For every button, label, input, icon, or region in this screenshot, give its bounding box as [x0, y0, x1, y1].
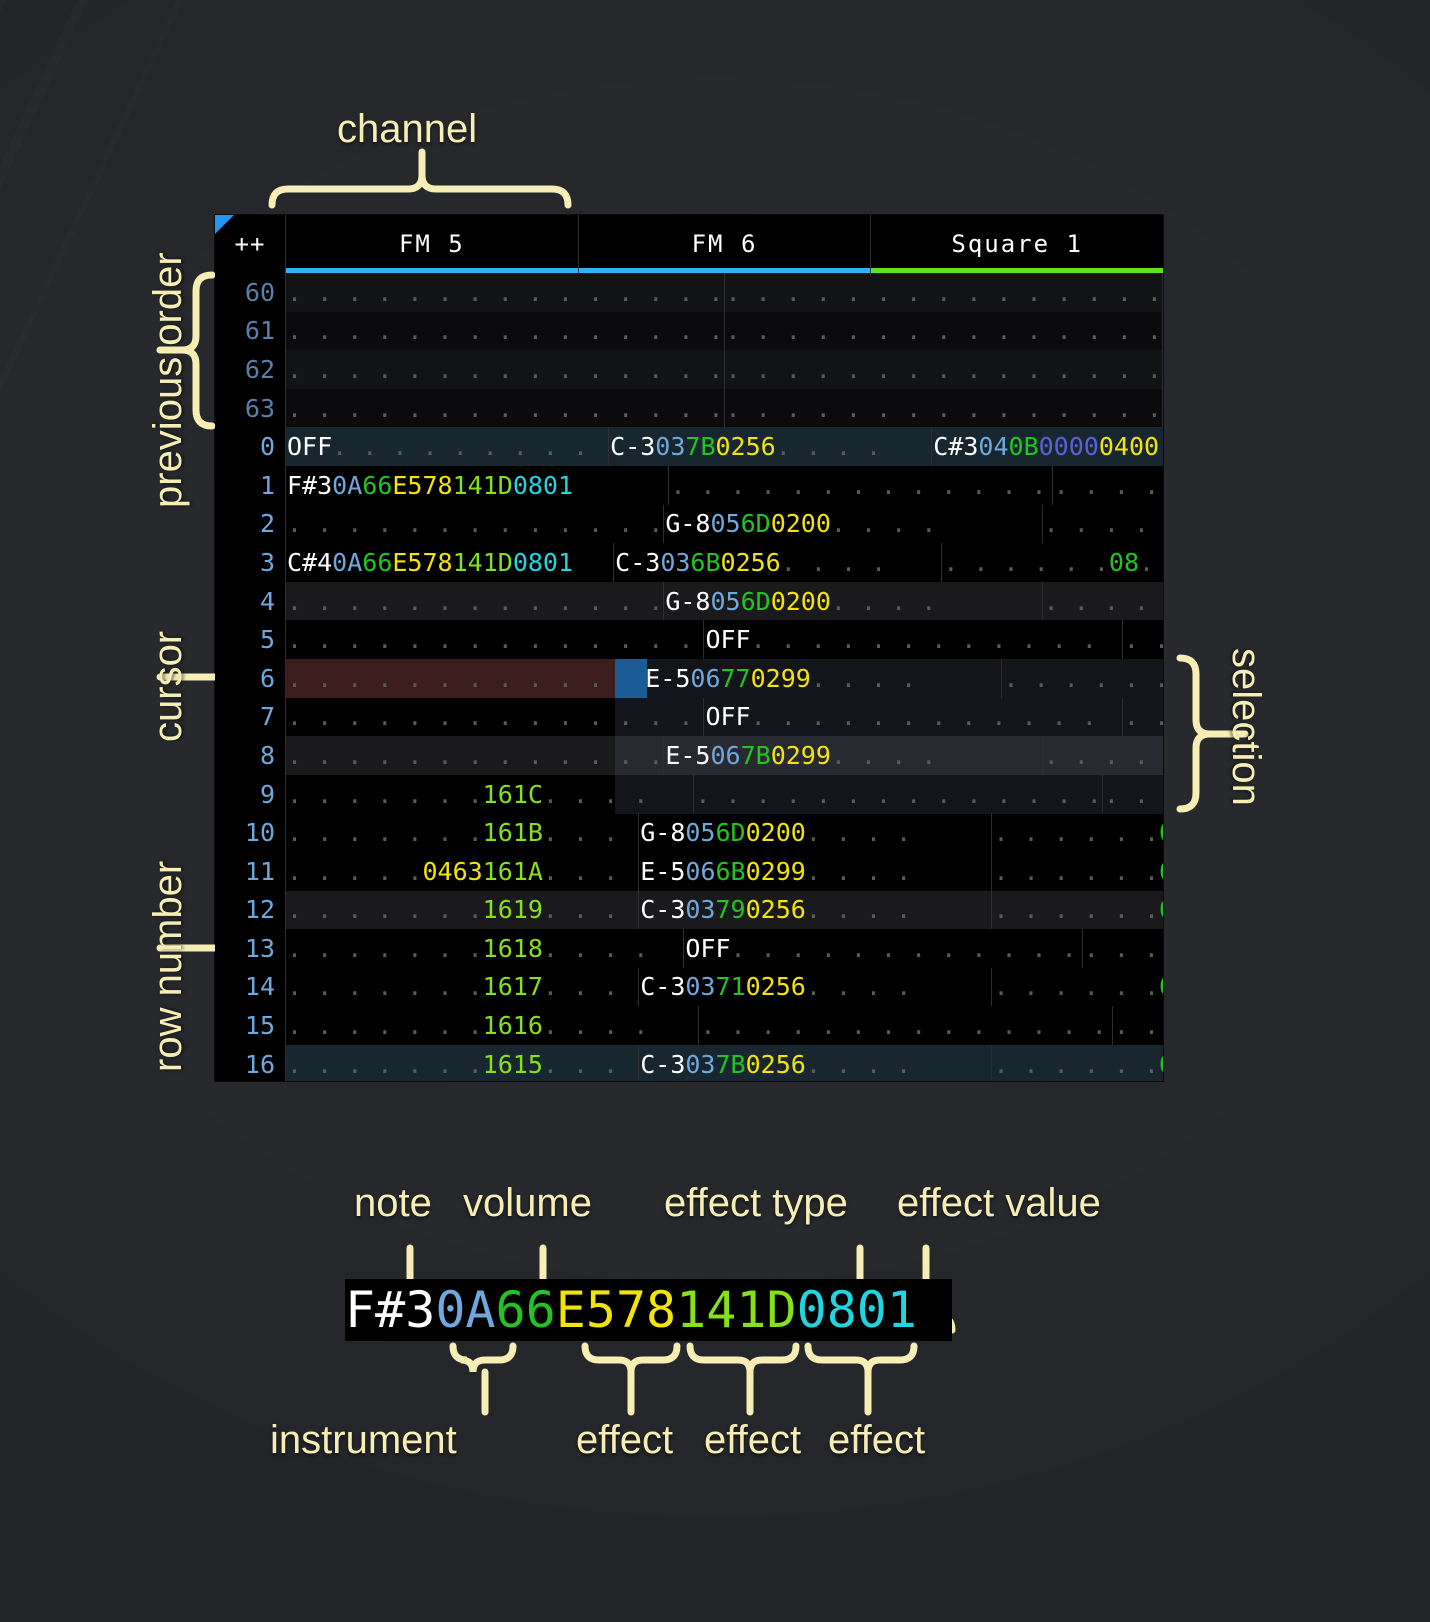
cell-segment-dots: . . . . . . . . . . . . . . .: [1114, 1011, 1163, 1040]
row-number[interactable]: 10: [215, 813, 286, 852]
pattern-row[interactable]: 11. . . . .0463161A. . . .E-5066B0299. .…: [215, 852, 1163, 891]
cell-segment-effect_lime: 1619: [483, 895, 543, 924]
cell-segment-volume: 71: [715, 972, 745, 1001]
cell-segment-effect_yellow: 0200: [771, 587, 831, 616]
channel-cell[interactable]: . . . . . .09. . . . . . . .: [1043, 505, 1163, 544]
channel-cell[interactable]: E-5066B0299. . . .: [639, 852, 992, 891]
channel-cell[interactable]: C-3037B0256. . . .: [639, 1045, 992, 1081]
channel-header-square1[interactable]: Square 1: [871, 215, 1163, 273]
cell-segment-volume: 6B: [690, 548, 720, 577]
cell-segment-effect_yellow: 0256: [746, 895, 806, 924]
cell-text: . . . . . . . . . . . . . . .: [725, 355, 1163, 384]
cell-segment-effect_yellow: 0299: [751, 664, 811, 693]
cell-segment-volume: 6B: [716, 857, 746, 886]
pattern-row[interactable]: 13. . . . . . .1618. . . .OFF. . . . . .…: [215, 929, 1163, 968]
channel-cell[interactable]: . . . . . .090464. . . .: [1002, 659, 1163, 698]
cell-segment-dots: . . . . . .: [1124, 625, 1163, 654]
cell-segment-note: E-5: [640, 857, 685, 886]
cell-text: . . . . . .09. . . . . . . .: [992, 1050, 1163, 1079]
cell-segment-dots: . . . . . . . .: [1139, 548, 1163, 577]
channel-cell[interactable]: C#40A66E578141D0801: [286, 543, 614, 582]
cell-segment-dots: . . . . . . .: [287, 818, 483, 847]
brace-channel: [272, 175, 568, 205]
cell-text: E-5066B0299. . . .: [639, 857, 911, 886]
cell-text: . . . . . . .161C. . . .: [286, 780, 648, 809]
cell-segment-note: F#3: [287, 471, 332, 500]
channel-cell[interactable]: . . . . . . . . . . . . . . .: [699, 1006, 1112, 1045]
cell-segment-note: C#4: [287, 548, 332, 577]
pattern-row[interactable]: 60. . . . . . . . . . . . . . .. . . . .…: [215, 273, 1163, 312]
cell-text: . . . . . . . . . . . . . . .: [669, 471, 1052, 500]
cell-text: . . . . . . . . . . . . . . .: [694, 780, 1102, 809]
cell-segment-dots: . . . . . . . . . . . .: [731, 934, 1077, 963]
cell-segment-effect_lime: 1615: [483, 1050, 543, 1079]
cell-segment-dots: . . . .: [543, 1011, 648, 1040]
row-number[interactable]: 11: [215, 852, 286, 891]
channel-cell[interactable]: . . . . . . .1616. . . .: [286, 1006, 699, 1045]
row-cells: . . . . . . . . . . . . . . .G-8056D0200…: [286, 505, 1163, 544]
cell-segment-instrument: 03: [660, 548, 690, 577]
cell-text: . . . . . . . . . . . . . . .: [725, 278, 1163, 307]
row-number[interactable]: 61: [215, 312, 286, 351]
cell-segment-dots: . . . . . . . . . . . . . . .: [726, 278, 1163, 307]
cell-segment-volume: 79: [715, 895, 745, 924]
cell-text: . . . . . . .1617. . . .: [286, 972, 639, 1001]
row-number[interactable]: 16: [215, 1045, 286, 1081]
cell-text: OFF. . . . . . . . . . . .: [684, 934, 1076, 963]
pattern-row[interactable]: 5. . . . . . . . . . . . . . .OFF. . . .…: [215, 620, 1163, 659]
cell-segment-dots: . . . . . . . . . . . . . . .: [670, 471, 1052, 500]
cell-segment-dots: . . . .: [543, 818, 639, 847]
row-cells: . . . . . . . . . . . . . . .G-8056D0200…: [286, 582, 1163, 621]
cell-text: E-5067B0299. . . .: [664, 741, 936, 770]
row-number[interactable]: 15: [215, 1006, 286, 1045]
cell-text: . . . . . .08. . . . . . . .: [942, 548, 1163, 577]
cell-segment-effect_lime: 161A: [483, 857, 543, 886]
cell-text: . . . . . . . . . . . . . . .: [286, 355, 724, 384]
cell-segment-volume: 09: [1159, 1050, 1163, 1079]
cell-text: . . . . . . . . . . . . . . .: [286, 664, 644, 693]
cell-segment-instrument: 05: [710, 587, 740, 616]
cell-text: . . . . . . . . . . . . . . .: [286, 509, 664, 538]
annotation-channel: channel: [337, 107, 477, 152]
cell-segment-dots: . . . . . . . . . . . . . . .: [287, 278, 724, 307]
pattern-row[interactable]: 2. . . . . . . . . . . . . . .G-8056D020…: [215, 505, 1163, 544]
cell-text: . . . . . .07. . . . . . . .: [1043, 587, 1163, 616]
channel-cell[interactable]: . . . . . . . . . . . . . . .: [286, 698, 704, 737]
cell-segment-dots: . . . . . .: [1044, 587, 1163, 616]
channel-cell[interactable]: G-8056D0200. . . .: [664, 505, 1042, 544]
cell-text: . . . . . .0C. . . . . . . .: [1103, 780, 1163, 809]
row-cells: . . . . . . .161C. . . .. . . . . . . . …: [286, 775, 1163, 814]
channel-cell[interactable]: . . . . . .08. . . . . . . .: [942, 543, 1163, 582]
channel-cell[interactable]: F#30A66E578141D0801: [286, 466, 669, 505]
row-cells: . . . . . . .161B. . . .G-8056D0200. . .…: [286, 813, 1163, 852]
cell-text: G-8056D0200. . . .: [639, 818, 911, 847]
cell-segment-note: E-5: [645, 664, 690, 693]
channel-cell[interactable]: . . . . . . . . . . . . . . .: [286, 505, 664, 544]
detail-segment-effect_cyan: 0801: [797, 1281, 917, 1339]
annotation-selection: selection: [1223, 648, 1268, 806]
row-number[interactable]: 6: [215, 659, 286, 698]
channel-cell[interactable]: . . . . . .0C. . . . . . . .: [1103, 775, 1163, 814]
cell-text: . . . . . .0C. . . . . . . .: [992, 857, 1163, 886]
brace-selection: [1180, 658, 1210, 809]
cell-segment-dots: . . . .: [831, 587, 936, 616]
row-number[interactable]: 14: [215, 968, 286, 1007]
channel-header-fm6[interactable]: FM 6: [579, 215, 872, 273]
cell-segment-instrument: 05: [685, 818, 715, 847]
channel-cell[interactable]: C-303790256. . . .: [639, 891, 992, 930]
pattern-row[interactable]: 10. . . . . . .161B. . . .G-8056D0200. .…: [215, 813, 1163, 852]
channel-header-label: Square 1: [951, 230, 1083, 258]
cell-segment-dots: . . . . . .: [993, 857, 1159, 886]
cell-segment-note: C-3: [610, 432, 655, 461]
cell-segment-dots: . . . . . .: [993, 1050, 1159, 1079]
cell-segment-volume: 0B: [1159, 895, 1163, 924]
cell-text: . . . . . . . . . . . . . . .: [286, 316, 724, 345]
cell-text: . . . . . . . . . . . . . . .: [286, 394, 724, 423]
cell-segment-volume: 7B: [685, 432, 715, 461]
cell-segment-volume: 77: [721, 664, 751, 693]
channel-cell[interactable]: . . . . . . .1615. . . .: [286, 1045, 639, 1081]
cell-segment-effect_lime: 1618: [483, 934, 543, 963]
cell-text: . . . . . . .161B. . . .: [286, 818, 639, 847]
cell-segment-dots: . . . . . . .: [287, 1011, 483, 1040]
cell-text: . . . . . . .1616. . . .: [286, 1011, 648, 1040]
cell-text: C-303790256. . . .: [639, 895, 911, 924]
cell-segment-dots: . . . . . .: [1044, 741, 1163, 770]
pattern-row[interactable]: 3C#40A66E578141D0801C-3036B0256. . . .. …: [215, 543, 1163, 582]
cell-segment-dots: . . . . . . . . . . . . . . .: [1084, 934, 1163, 963]
cell-segment-volume: 0A: [1159, 972, 1163, 1001]
cell-segment-volume: 66: [362, 548, 392, 577]
cell-segment-volume: 6D: [741, 509, 771, 538]
channel-header-fm5[interactable]: FM 5: [286, 215, 579, 273]
detail-segment-instrument: 0A: [435, 1281, 495, 1339]
cell-segment-effect_yellow: 0256: [746, 972, 806, 1001]
brace-effect-1: [585, 1346, 677, 1372]
channel-cell[interactable]: OFF. . . . . . . . . . . .: [704, 620, 1122, 659]
channel-cell[interactable]: G-8056D0200. . . .: [639, 813, 992, 852]
annotation-effect-1: effect: [576, 1418, 673, 1463]
row-number-header-label: ++: [235, 230, 266, 258]
pattern-row[interactable]: 7. . . . . . . . . . . . . . .OFF. . . .…: [215, 698, 1163, 737]
cell-text: . . . . . .090464. . . .: [1002, 664, 1163, 693]
annotation-note: note: [354, 1181, 432, 1226]
channel-cell[interactable]: E-5067B0299. . . .: [664, 736, 1042, 775]
cell-segment-volume: 6D: [715, 818, 745, 847]
channel-cell[interactable]: . . . . . . .161B. . . .: [286, 813, 639, 852]
cell-segment-dots: . . . .: [543, 780, 648, 809]
channel-cell[interactable]: . . . . . . . . . . . . . . .: [1083, 929, 1163, 968]
cell-segment-dots: . . . . . . . . . . . .: [751, 625, 1097, 654]
cell-text: C-3037B0256. . . .: [639, 1050, 911, 1079]
channel-cell[interactable]: . . . . . . . . . . . . . . .: [725, 350, 1164, 389]
pattern-row[interactable]: 63. . . . . . . . . . . . . . .. . . . .…: [215, 389, 1163, 428]
cell-segment-dots: . . . .: [806, 972, 911, 1001]
row-cells: F#30A66E578141D0801. . . . . . . . . . .…: [286, 466, 1163, 505]
channel-cell[interactable]: . . . . . . . . . . . . . . .: [725, 312, 1164, 351]
pattern-rows[interactable]: 60. . . . . . . . . . . . . . .. . . . .…: [215, 273, 1163, 1081]
channel-cell[interactable]: . . . . . .0A. . . . . . . .: [1123, 698, 1163, 737]
cell-segment-dots: . . . . . . . . . . . . . . .: [287, 741, 664, 770]
cell-segment-dots: . . . . . . .: [287, 780, 483, 809]
cell-segment-volume: 7B: [715, 1050, 745, 1079]
cell-text: . . . . . . . . . . . . . . .: [725, 316, 1163, 345]
channel-cell[interactable]: G-8056D0200. . . .: [664, 582, 1042, 621]
row-number[interactable]: 1: [215, 466, 286, 505]
cell-segment-note: C#3: [933, 432, 978, 461]
cell-segment-dots: . . . . . . . . . . . . . . .: [287, 625, 704, 654]
row-number[interactable]: 12: [215, 891, 286, 930]
cell-segment-effect_lime: 161B: [483, 818, 543, 847]
row-number[interactable]: 5: [215, 620, 286, 659]
row-cells: C#40A66E578141D0801C-3036B0256. . . .. .…: [286, 543, 1163, 582]
cell-segment-dots: . . . . . .: [993, 818, 1159, 847]
row-cells: . . . . .0463161A. . . .E-5066B0299. . .…: [286, 852, 1163, 891]
channel-cell[interactable]: . . . . . . . . . . . . . . .: [694, 775, 1102, 814]
cell-segment-dots: . . . . . . . . . . . . . . .: [726, 355, 1163, 384]
channel-header-label: FM 5: [399, 230, 465, 258]
channel-cell[interactable]: . . . . . . . . . . . . . . .: [286, 620, 704, 659]
cell-text: . . . . . .08. . . . . . . .: [1123, 625, 1163, 654]
channel-cell[interactable]: . . . . . . . . . . . . . . .: [286, 659, 644, 698]
cell-segment-effect_yellow: 0256: [716, 432, 776, 461]
channel-cell[interactable]: . . . . . . . . . . . . . . .: [286, 350, 725, 389]
channel-cell[interactable]: . . . . . .0A. . . . . . . .: [992, 968, 1163, 1007]
cell-segment-effect_lime: 161C: [483, 780, 543, 809]
cell-text: . . . . . .0A. . . . . . . .: [992, 972, 1163, 1001]
row-number-header[interactable]: ++: [215, 215, 286, 273]
cell-segment-instrument: 03: [685, 895, 715, 924]
annotation-cursor: cursor: [146, 631, 191, 742]
channel-cell[interactable]: C-3037B0256. . . .: [609, 427, 932, 466]
cell-segment-effect_yellow: 0463: [422, 857, 482, 886]
cell-segment-instrument: 04: [978, 432, 1008, 461]
cell-text: . . . . . . . . . . . . . . .: [286, 702, 704, 731]
cell-segment-effect_yellow: 0256: [746, 1050, 806, 1079]
pattern-row[interactable]: 61. . . . . . . . . . . . . . .. . . . .…: [215, 312, 1163, 351]
channel-cell[interactable]: . . . . . .08. . . . . . . .: [1123, 620, 1163, 659]
cell-text: . . . . . . . . . . . . . . .: [286, 741, 664, 770]
channel-cell[interactable]: . . . . . . . . . . . . . . .: [286, 312, 725, 351]
cell-segment-effect_yellow: 0256: [721, 548, 781, 577]
channel-cell[interactable]: . . . . . .0C. . . . . . . .: [992, 852, 1163, 891]
row-number[interactable]: 62: [215, 350, 286, 389]
cell-segment-dots: . . . . . .: [1054, 471, 1163, 500]
channel-cell[interactable]: . . . . . .07. . . . . . . .: [1043, 582, 1163, 621]
pattern-row[interactable]: 1F#30A66E578141D0801. . . . . . . . . . …: [215, 466, 1163, 505]
cell-segment-dots: . . . .: [543, 895, 639, 924]
channel-cell[interactable]: . . . . . . .1619. . . .: [286, 891, 639, 930]
channel-cell[interactable]: . . . . . . . . . . . . . . .: [725, 273, 1164, 312]
cell-segment-instrument: 03: [655, 432, 685, 461]
cell-segment-dots: . . . . . . . . . . . . . . .: [287, 664, 644, 693]
cell-segment-dots: . . . .: [781, 548, 886, 577]
row-number[interactable]: 7: [215, 698, 286, 737]
cell-text: G-8056D0200. . . .: [664, 587, 936, 616]
cell-segment-note: E-5: [665, 741, 710, 770]
channel-cell[interactable]: . . . . . .0D. . . . . . . .: [992, 813, 1163, 852]
row-number[interactable]: 63: [215, 389, 286, 428]
row-number[interactable]: 60: [215, 273, 286, 312]
cell-text: C#40A66E578141D0801: [286, 548, 573, 577]
cell-segment-dots: . . . .: [831, 741, 936, 770]
row-cells: . . . . . . . . . . . . . . .E-5067B0299…: [286, 736, 1163, 775]
row-number[interactable]: 13: [215, 929, 286, 968]
row-number[interactable]: 4: [215, 582, 286, 621]
row-cells: . . . . . . .1616. . . .. . . . . . . . …: [286, 1006, 1163, 1045]
cell-text: . . . . . .0B. . . . . . . .: [992, 895, 1163, 924]
pattern-row[interactable]: 15. . . . . . .1616. . . .. . . . . . . …: [215, 1006, 1163, 1045]
cell-segment-volume: 7B: [741, 741, 771, 770]
pattern-row[interactable]: 62. . . . . . . . . . . . . . .. . . . .…: [215, 350, 1163, 389]
channel-cell[interactable]: OFF. . . . . . . . . .0A00: [286, 427, 609, 466]
cell-segment-dots: . . . .: [543, 934, 648, 963]
channel-cell[interactable]: OFF. . . . . . . . . . . .: [684, 929, 1082, 968]
channel-cell[interactable]: . . . . . .0B. . . . . . . .: [992, 891, 1163, 930]
brace-effect-3: [808, 1346, 914, 1372]
pattern-row[interactable]: 4. . . . . . . . . . . . . . .G-8056D020…: [215, 582, 1163, 621]
channel-cell[interactable]: . . . . . . . . . . . . . . .: [669, 466, 1052, 505]
annotation-row-number: row number: [146, 861, 191, 1072]
cell-segment-effect_yellow: E578: [392, 471, 452, 500]
cell-text: F#30A66E578141D0801: [286, 471, 573, 500]
cell-segment-effect_cyan: 0801: [513, 471, 573, 500]
row-cells: . . . . . . .1615. . . .C-3037B0256. . .…: [286, 1045, 1163, 1081]
pattern-row[interactable]: 14. . . . . . .1617. . . .C-303710256. .…: [215, 968, 1163, 1007]
cell-segment-dots: . . . . . . . . . . . . . . .: [700, 1011, 1112, 1040]
cell-segment-effect_lime: 141D: [453, 548, 513, 577]
cell-segment-dots: . . . . . . . . . . . . . . .: [287, 394, 724, 423]
cell-text: . . . . . . .1619. . . .: [286, 895, 639, 924]
cell-segment-note: OFF: [287, 432, 332, 461]
cell-segment-effect_yellow: E578: [392, 548, 452, 577]
cell-text: . . . . . . . . . . . . . . .: [1113, 1011, 1163, 1040]
cell-text: . . . . . . . . . . . . . . .: [699, 1011, 1112, 1040]
cell-segment-instrument: 0A: [332, 471, 362, 500]
row-number[interactable]: 8: [215, 736, 286, 775]
cell-text: . . . . . .09. . . . . . . .: [1043, 509, 1163, 538]
brace-effect-2: [690, 1346, 796, 1372]
channel-cell[interactable]: . . . . . . . . . . . . . . .: [286, 273, 725, 312]
cell-segment-volume: 6D: [741, 587, 771, 616]
channel-cell[interactable]: . . . . . . . . . . . . . . .: [286, 736, 664, 775]
row-number[interactable]: 2: [215, 505, 286, 544]
channel-cell[interactable]: . . . . . . .1618. . . .: [286, 929, 684, 968]
cell-text: . . . . . .0B. . . . . . . .: [1043, 741, 1163, 770]
cell-segment-dots: . . . . . .: [993, 895, 1159, 924]
pattern-header: ++ FM 5 FM 6 Square 1: [215, 215, 1163, 273]
channel-header-label: FM 6: [692, 230, 758, 258]
cell-segment-dots: . . . . . . . . . . . . . . .: [287, 702, 704, 731]
cell-segment-dots: . . . .: [543, 1050, 639, 1079]
annotation-instrument: instrument: [270, 1418, 457, 1463]
cell-text: C-3036B0256. . . .: [614, 548, 886, 577]
channel-cell[interactable]: C-303710256. . . .: [639, 968, 992, 1007]
cell-segment-effect_cyan: 0801: [513, 548, 573, 577]
cell-text: . . . . . . . . . . . . . . .: [286, 625, 704, 654]
detail-segment-effect_lime: 141D: [676, 1281, 796, 1339]
row-cells: . . . . . . . . . . . . . . .. . . . . .…: [286, 350, 1163, 389]
pattern-row[interactable]: 9. . . . . . .161C. . . .. . . . . . . .…: [215, 775, 1163, 814]
channel-cell[interactable]: E-506770299. . . .: [644, 659, 1002, 698]
detail-segment-note: F#3: [345, 1281, 435, 1339]
cell-segment-dots: . . . . . . . . . . . . . . .: [726, 316, 1163, 345]
cell-text: C#3040B00000400. . .: [932, 432, 1163, 461]
cell-text: . . . . . . . . . . . . . . .: [1083, 934, 1163, 963]
cell-segment-dots: . . . . . . . . . . . . . . .: [287, 316, 724, 345]
channel-cell[interactable]: . . . . . . .161C. . . .: [286, 775, 694, 814]
channel-cell[interactable]: . . . . . .0B. . . . . . . .: [1043, 736, 1163, 775]
cell-text: . . . . .0463161A. . . .: [286, 857, 639, 886]
cell-segment-note: C-3: [615, 548, 660, 577]
detail-segment-volume: 66: [496, 1281, 556, 1339]
pattern-editor[interactable]: ++ FM 5 FM 6 Square 1 60. . . . . . . . …: [215, 215, 1163, 1081]
row-cells: . . . . . . . . . . . . . . .E-506770299…: [286, 659, 1163, 698]
cell-segment-note: C-3: [640, 972, 685, 1001]
cell-text: . . . . . . . . . . . . . . .: [725, 394, 1163, 423]
cell-segment-effect_yellow: 0200: [771, 509, 831, 538]
channel-cell[interactable]: OFF. . . . . . . . . . . .: [704, 698, 1122, 737]
cell-segment-dots: . . . .: [776, 432, 881, 461]
row-number[interactable]: 3: [215, 543, 286, 582]
pattern-row[interactable]: 6. . . . . . . . . . . . . . .E-50677029…: [215, 659, 1163, 698]
cell-segment-volume: 08: [1109, 548, 1139, 577]
channel-cell[interactable]: C#3040B00000400. . .: [932, 427, 1163, 466]
pattern-row[interactable]: 16. . . . . . .1615. . . .C-3037B0256. .…: [215, 1045, 1163, 1081]
channel-cell[interactable]: . . . . . . .1617. . . .: [286, 968, 639, 1007]
triangle-marker-icon: [215, 215, 234, 234]
channel-cell[interactable]: . . . . . .0A. . . . . . . .: [1053, 466, 1163, 505]
cell-segment-note: OFF: [705, 702, 750, 731]
row-number[interactable]: 0: [215, 427, 286, 466]
detail-segment-effect_yellow: E578: [556, 1281, 676, 1339]
cell-segment-dots: . . . .: [806, 857, 911, 886]
cell-segment-dots: . . . . . . .: [287, 895, 483, 924]
cell-text: . . . . . .0A. . . . . . . .: [1053, 471, 1163, 500]
cell-segment-dots: . . . .: [806, 1050, 911, 1079]
cell-segment-note: OFF: [685, 934, 730, 963]
cell-text: OFF. . . . . . . . . . . .: [704, 702, 1096, 731]
cell-segment-dots: . . .: [1159, 432, 1163, 461]
channel-cell[interactable]: . . . . . .09. . . . . . . .: [992, 1045, 1163, 1081]
channel-cell[interactable]: . . . . .0463161A. . . .: [286, 852, 639, 891]
cell-segment-dots: . . . . . . .: [287, 972, 483, 1001]
channel-cell[interactable]: . . . . . . . . . . . . . . .: [1113, 1006, 1163, 1045]
pattern-row[interactable]: 12. . . . . . .1619. . . .C-303790256. .…: [215, 891, 1163, 930]
cell-text: C-303710256. . . .: [639, 972, 911, 1001]
row-number[interactable]: 9: [215, 775, 286, 814]
cell-text: OFF. . . . . . . . . .0A00: [286, 432, 609, 461]
channel-cell[interactable]: . . . . . . . . . . . . . . .: [725, 389, 1164, 428]
channel-cell[interactable]: . . . . . . . . . . . . . . .: [286, 389, 725, 428]
channel-cell[interactable]: . . . . . . . . . . . . . . .: [286, 582, 664, 621]
cell-text: OFF. . . . . . . . . . . .: [704, 625, 1096, 654]
cell-segment-instrument: 03: [685, 1050, 715, 1079]
cell-segment-dots: . . . . . . . . . . . . . . .: [287, 355, 724, 384]
cell-segment-dots: . . . . . . . . . . . . . . .: [287, 587, 664, 616]
row-cells: . . . . . . . . . . . . . . .OFF. . . . …: [286, 698, 1163, 737]
cell-segment-effect_yellow: 0299: [746, 857, 806, 886]
cell-segment-dots: . . . .: [543, 857, 639, 886]
pattern-row[interactable]: 0OFF. . . . . . . . . .0A00C-3037B0256. …: [215, 427, 1163, 466]
pattern-row[interactable]: 8. . . . . . . . . . . . . . .E-5067B029…: [215, 736, 1163, 775]
cell-segment-instrument: 05: [710, 509, 740, 538]
cell-segment-instrument: 06: [710, 741, 740, 770]
channel-cell[interactable]: C-3036B0256. . . .: [614, 543, 942, 582]
